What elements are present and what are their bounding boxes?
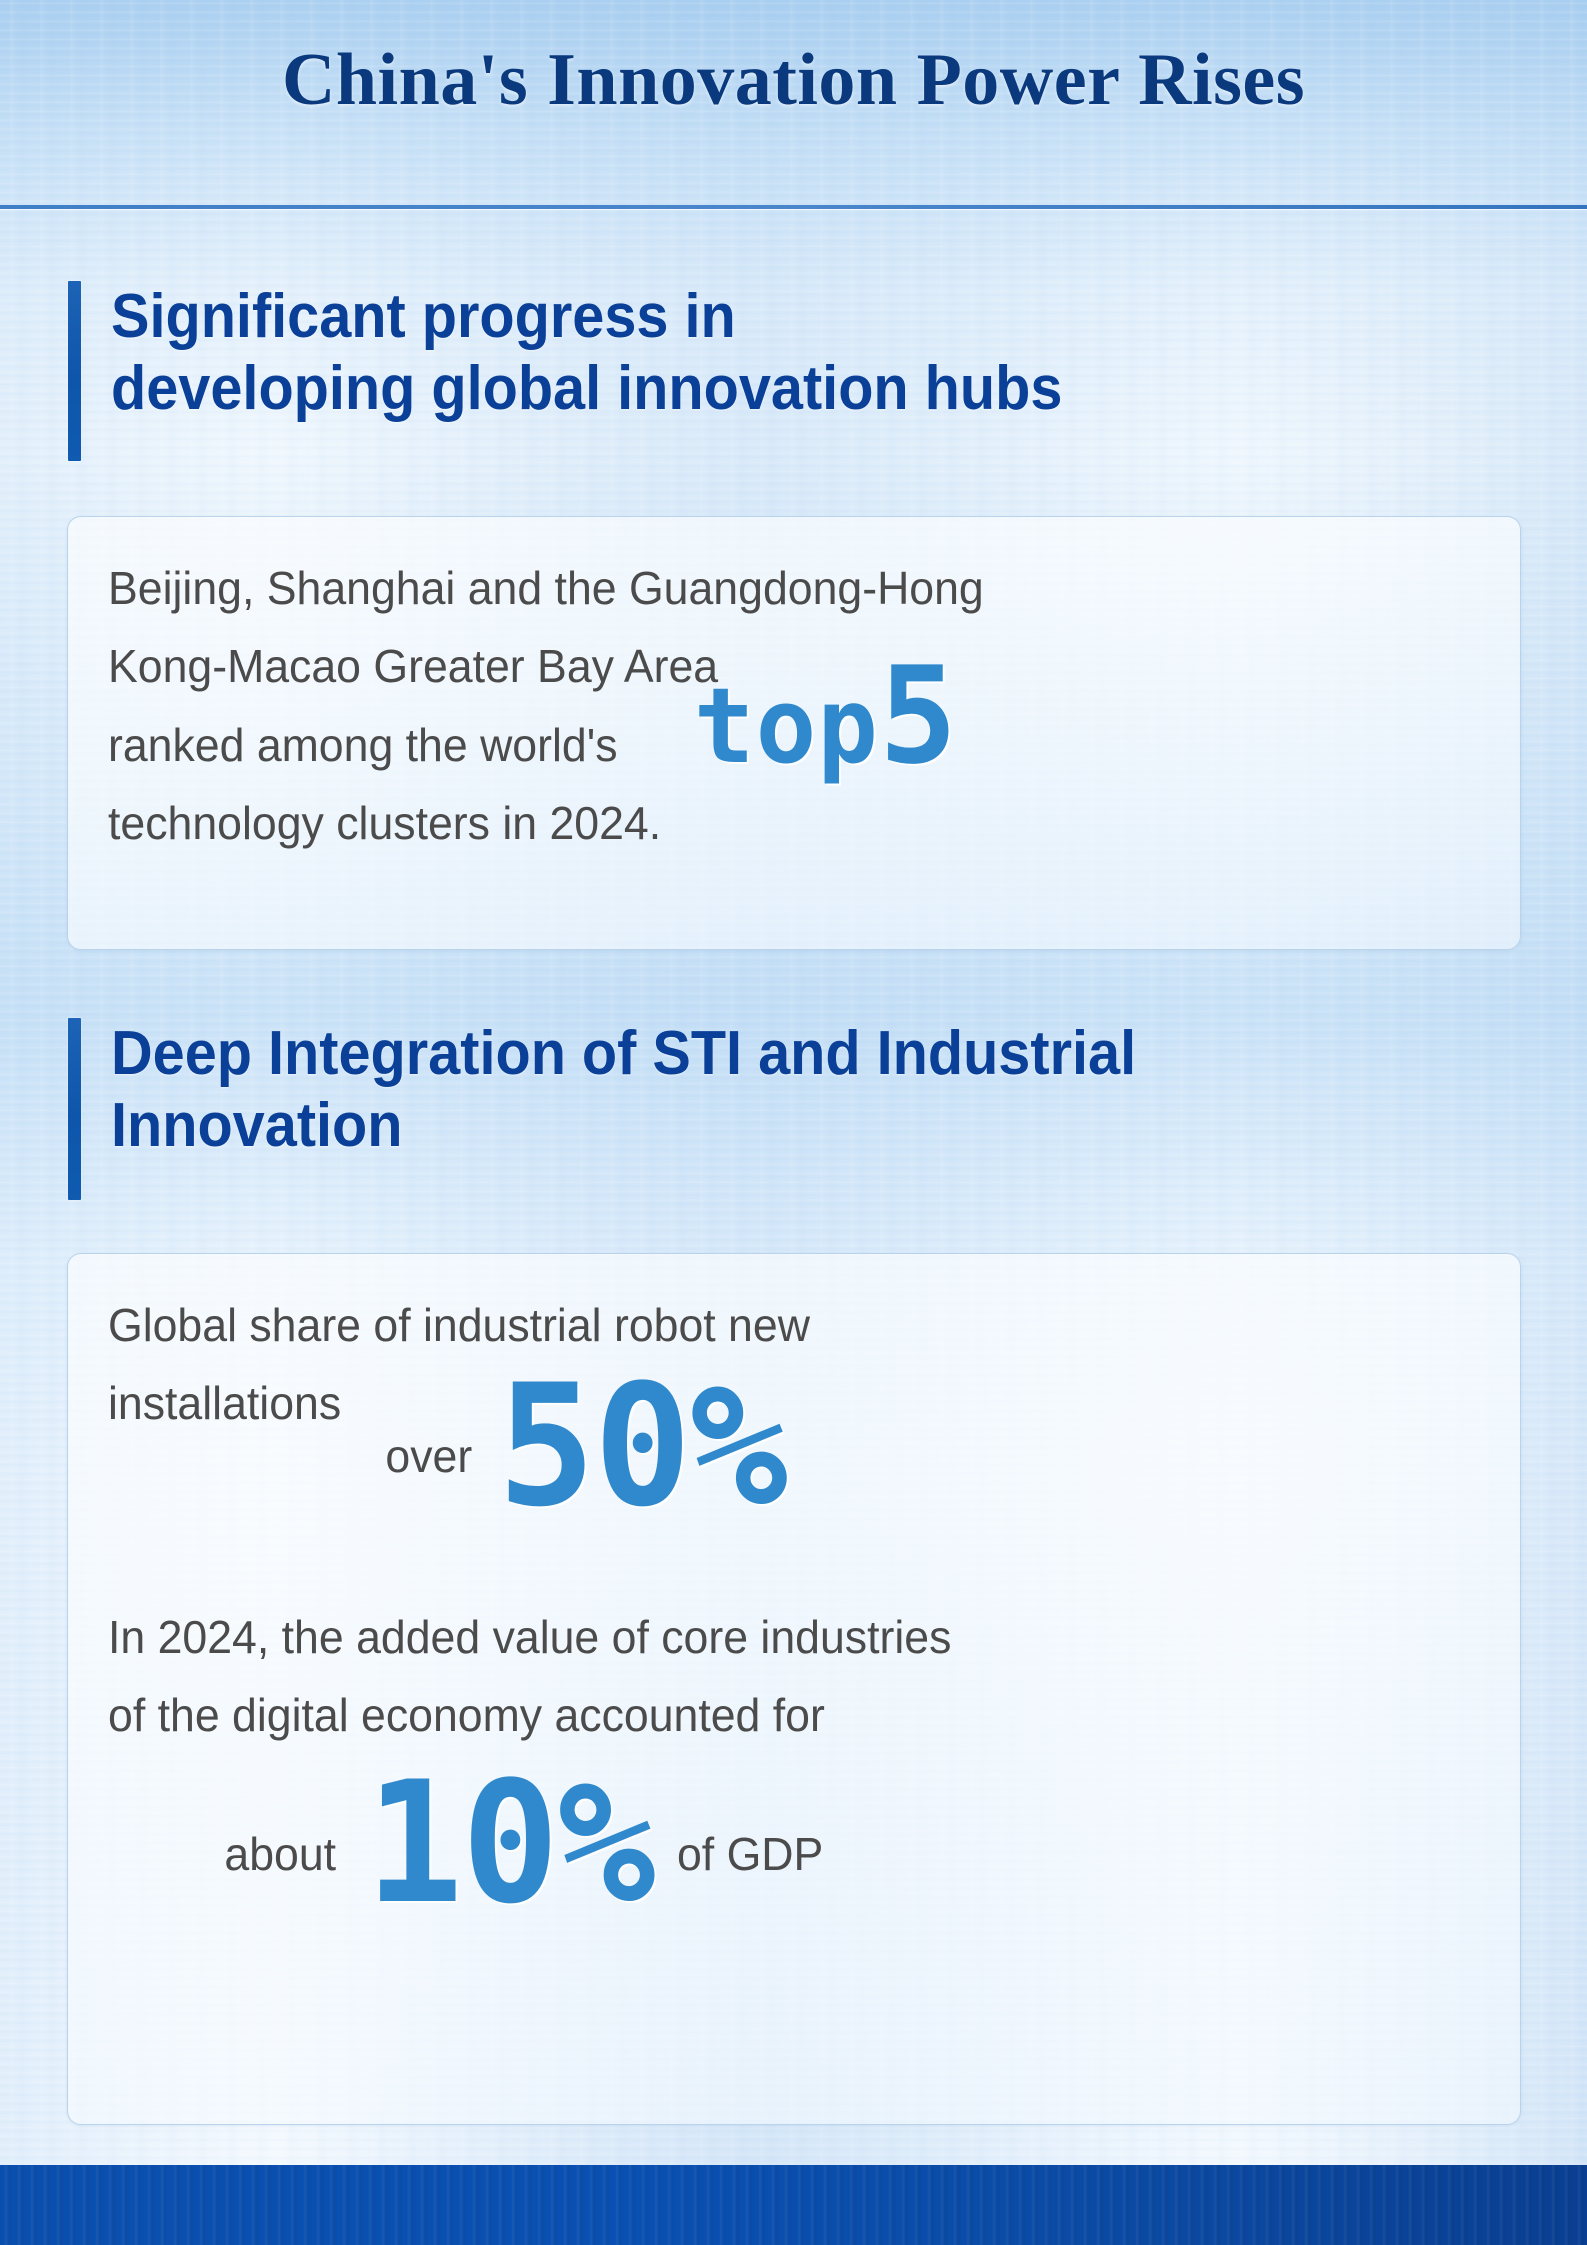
stat-top5: top5 xyxy=(694,660,956,774)
stat-50-prefix: over xyxy=(385,1421,472,1517)
content-card-1: Beijing, Shanghai and the Guangdong-Hong… xyxy=(67,516,1521,950)
card-2-block-2: In 2024, the added value of core industr… xyxy=(108,1602,1449,1916)
card-1-line-3-row: ranked among the world's top5 xyxy=(108,710,1449,780)
stat-top5-word: top xyxy=(694,665,879,787)
infographic-poster: China's Innovation Power Rises Significa… xyxy=(0,0,1587,2245)
content-card-2: Global share of industrial robot new ins… xyxy=(67,1253,1521,2125)
section-heading-2-text: Deep Integration of STI and Industrial I… xyxy=(111,1018,1136,1162)
card-1-line-1: Beijing, Shanghai and the Guangdong-Hong xyxy=(108,553,1449,623)
card-2-block-1: Global share of industrial robot new ins… xyxy=(108,1290,1449,1518)
stat-row-50: over 50% xyxy=(385,1375,1448,1518)
page-title: China's Innovation Power Rises xyxy=(0,38,1587,123)
card-1-body: Beijing, Shanghai and the Guangdong-Hong… xyxy=(108,553,1449,859)
accent-bar-2 xyxy=(68,1018,81,1200)
section-heading-1-text: Significant progress in developing globa… xyxy=(111,281,1062,425)
stat-10-suffix: of GDP xyxy=(677,1819,823,1915)
stat-10-prefix: about xyxy=(224,1819,336,1915)
stat-50-value: 50% xyxy=(497,1375,786,1518)
stat-top5-number: 5 xyxy=(879,638,956,794)
card-2-b2-line-1: In 2024, the added value of core industr… xyxy=(108,1602,1449,1672)
card-2-body: Global share of industrial robot new ins… xyxy=(108,1290,1449,1915)
card-1-line-4: technology clusters in 2024. xyxy=(108,788,1449,858)
section-heading-1: Significant progress in developing globa… xyxy=(68,281,1134,461)
card-1-line-3: ranked among the world's xyxy=(108,719,618,771)
accent-bar-1 xyxy=(68,281,81,461)
card-2-b2-line-2: of the digital economy accounted for xyxy=(108,1680,1449,1750)
stat-row-10: about 10% of GDP xyxy=(224,1772,1448,1915)
header-divider xyxy=(0,205,1587,209)
stat-10-value: 10% xyxy=(365,1772,654,1915)
footer-band xyxy=(0,2165,1587,2245)
section-heading-2: Deep Integration of STI and Industrial I… xyxy=(68,1018,1213,1200)
